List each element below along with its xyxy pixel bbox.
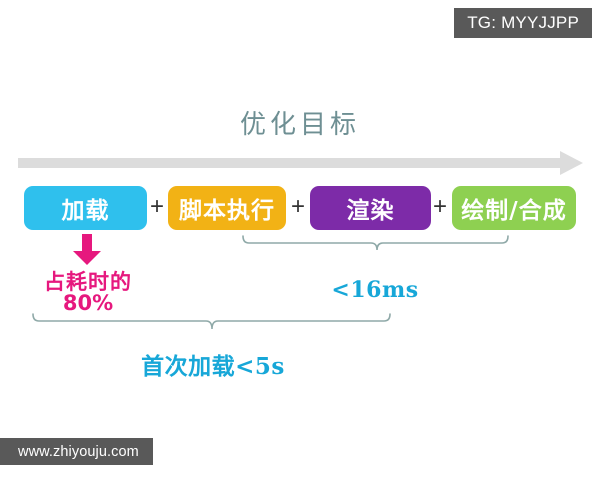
stage-label-paint-composite: 绘制/合成 <box>461 191 566 225</box>
brace-first-load <box>26 312 398 348</box>
measure-label-frame-budget: <16ms <box>295 277 455 303</box>
stage-label-render: 渲染 <box>347 191 395 225</box>
measure-label-first-load: 首次加载<5s <box>122 347 304 381</box>
stage-box-render[interactable]: 渲染 <box>310 186 431 230</box>
stage-box-load[interactable]: 加载 <box>24 186 147 230</box>
stage-label-load: 加载 <box>62 191 110 225</box>
stage-separator-plus-3: + <box>430 193 450 221</box>
right-arrow-icon <box>18 150 583 176</box>
telegram-watermark-badge: TG: MYYJJPP <box>454 8 592 38</box>
stage-label-script-execution: 脚本执行 <box>179 191 275 225</box>
brace-frame-budget <box>236 234 516 270</box>
pipeline-stage-row: 加载 + 脚本执行 + 渲染 + 绘制/合成 <box>0 186 600 232</box>
site-watermark-badge: www.zhiyouju.com <box>0 438 153 465</box>
diagram-canvas: 优化目标 加载 + 脚本执行 + 渲染 + 绘制/合成 占耗时的 80% <16… <box>0 0 600 480</box>
stage-separator-plus-2: + <box>288 193 308 221</box>
stage-box-paint-composite[interactable]: 绘制/合成 <box>452 186 576 230</box>
down-arrow-icon <box>70 234 104 266</box>
stage-separator-plus-1: + <box>147 193 167 221</box>
stage-box-script-execution[interactable]: 脚本执行 <box>168 186 286 230</box>
page-title: 优化目标 <box>0 104 600 141</box>
